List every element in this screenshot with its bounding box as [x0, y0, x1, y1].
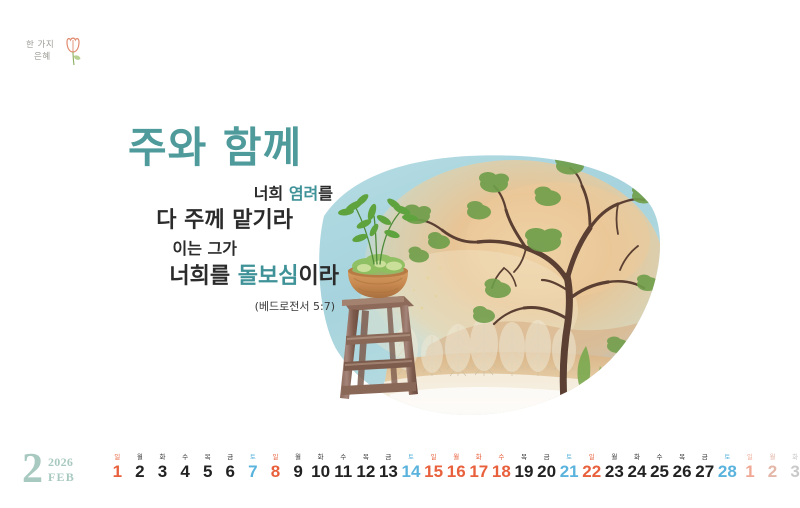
verse-line-3: 이는 그가	[0, 241, 345, 257]
day-number: 2	[129, 463, 152, 481]
calendar-day-cell[interactable]: 토7	[242, 454, 265, 481]
calendar-day-cell[interactable]: 화24	[626, 454, 649, 481]
calendar-day-cell[interactable]: 수25	[648, 454, 671, 481]
day-number: 1	[106, 463, 129, 481]
calendar-day-cell[interactable]: 월2	[129, 454, 152, 481]
calendar-day-cell[interactable]: 금20	[535, 454, 558, 481]
calendar-day-cell[interactable]: 수4	[174, 454, 197, 481]
month-block: 2 2026 FEB	[22, 450, 75, 489]
brand-line2: 은혜	[34, 50, 51, 62]
calendar-day-cell[interactable]: 수11	[332, 454, 355, 481]
day-number: 15	[422, 463, 445, 481]
day-number: 2	[761, 463, 784, 481]
day-number: 5	[196, 463, 219, 481]
day-number: 10	[309, 463, 332, 481]
calendar-day-cell[interactable]: 화10	[309, 454, 332, 481]
day-number: 19	[513, 463, 536, 481]
calendar-day-cell[interactable]: 화3	[784, 454, 800, 481]
calendar-day-cell[interactable]: 월2	[761, 454, 784, 481]
calendar-year: 2026	[48, 455, 75, 470]
day-number: 8	[264, 463, 287, 481]
day-number: 11	[332, 463, 355, 481]
verse-line-2: 다 주께 맡기라	[0, 210, 345, 232]
calendar-page: 한 가지 은혜	[0, 0, 800, 508]
verse-line-4-post: 이라	[299, 264, 339, 289]
calendar-day-cell[interactable]: 토28	[716, 454, 739, 481]
day-number: 24	[626, 463, 649, 481]
calendar-day-cell[interactable]: 일1	[106, 454, 129, 481]
day-strip: 일1월2화3수4목5금6토7일8월9화10수11목12금13토14일15월16화…	[106, 454, 800, 481]
verse-line-4-pre: 너희를	[169, 264, 237, 289]
verse-line-4-highlight: 돌보심	[238, 264, 299, 289]
day-number: 21	[558, 463, 581, 481]
calendar-day-cell[interactable]: 금13	[377, 454, 400, 481]
calendar-day-cell[interactable]: 토21	[558, 454, 581, 481]
illustration-svg	[318, 150, 668, 425]
day-number: 9	[287, 463, 310, 481]
calendar-day-cell[interactable]: 일8	[264, 454, 287, 481]
calendar-day-cell[interactable]: 목5	[196, 454, 219, 481]
calendar-strip: 2 2026 FEB 일1월2화3수4목5금6토7일8월9화10수11목12금1…	[0, 448, 800, 508]
calendar-day-cell[interactable]: 목12	[355, 454, 378, 481]
month-number: 2	[22, 450, 43, 489]
calendar-day-cell[interactable]: 일1	[739, 454, 762, 481]
calendar-day-cell[interactable]: 화3	[151, 454, 174, 481]
day-number: 17	[468, 463, 491, 481]
calendar-day-cell[interactable]: 월23	[603, 454, 626, 481]
day-number: 4	[174, 463, 197, 481]
day-number: 18	[490, 463, 513, 481]
calendar-day-cell[interactable]: 일15	[422, 454, 445, 481]
calendar-day-cell[interactable]: 월9	[287, 454, 310, 481]
verse-line-1-post: 를	[318, 184, 333, 203]
day-number: 14	[400, 463, 423, 481]
calendar-day-cell[interactable]: 금27	[693, 454, 716, 481]
verse-line-1-highlight: 염려	[289, 184, 318, 203]
day-number: 3	[151, 463, 174, 481]
calendar-month-abbr: FEB	[48, 470, 75, 485]
tulip-icon	[62, 36, 84, 66]
day-number: 27	[693, 463, 716, 481]
verse-reference: (베드로전서 5:7)	[0, 301, 345, 312]
calendar-day-cell[interactable]: 금6	[219, 454, 242, 481]
month-meta: 2026 FEB	[48, 455, 75, 485]
calendar-day-cell[interactable]: 월16	[445, 454, 468, 481]
day-number: 7	[242, 463, 265, 481]
calendar-day-cell[interactable]: 목26	[671, 454, 694, 481]
day-number: 20	[535, 463, 558, 481]
verse-line-1: 너희 염려를	[0, 186, 345, 202]
page-title: 주와 함께	[128, 114, 302, 175]
brand-logo: 한 가지 은혜	[26, 36, 96, 70]
day-number: 23	[603, 463, 626, 481]
day-number: 6	[219, 463, 242, 481]
brand-line1: 한 가지	[26, 38, 54, 50]
day-number: 3	[784, 463, 800, 481]
day-number: 1	[739, 463, 762, 481]
day-number: 16	[445, 463, 468, 481]
calendar-day-cell[interactable]: 목19	[513, 454, 536, 481]
calendar-day-cell[interactable]: 토14	[400, 454, 423, 481]
day-number: 22	[580, 463, 603, 481]
day-number: 26	[671, 463, 694, 481]
day-number: 28	[716, 463, 739, 481]
calendar-day-cell[interactable]: 일22	[580, 454, 603, 481]
day-number: 25	[648, 463, 671, 481]
illustration-watercolor-scene	[318, 150, 668, 425]
calendar-day-cell[interactable]: 수18	[490, 454, 513, 481]
day-number: 12	[355, 463, 378, 481]
scripture-verse: 너희 염려를 다 주께 맡기라 이는 그가 너희를 돌보심이라 (베드로전서 5…	[0, 186, 345, 312]
verse-line-4: 너희를 돌보심이라	[0, 266, 345, 288]
verse-line-1-pre: 너희	[254, 184, 289, 203]
calendar-day-cell[interactable]: 화17	[468, 454, 491, 481]
day-number: 13	[377, 463, 400, 481]
